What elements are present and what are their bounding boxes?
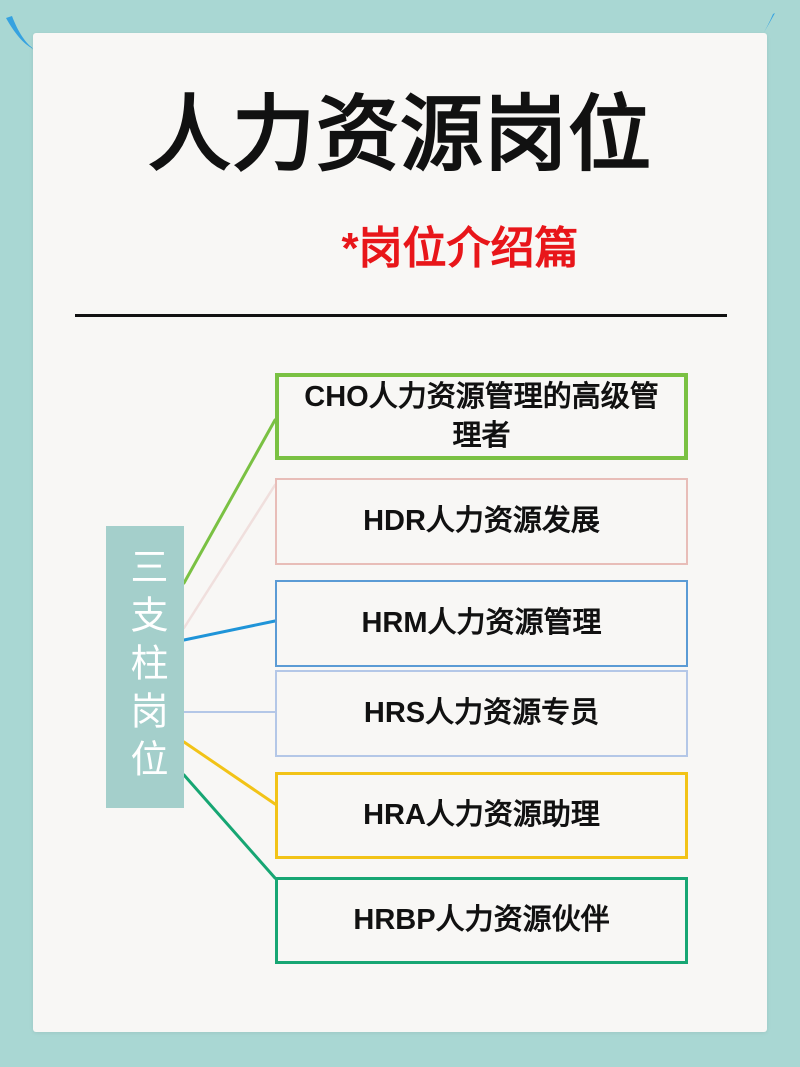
pillar-category-block[interactable]: 三支柱岗位 (106, 526, 184, 808)
role-box-label-hdr: HDR人力资源发展 (347, 502, 616, 541)
role-box-cho[interactable]: CHO人力资源管理的高级管理者 (275, 373, 688, 460)
role-box-label-hrs: HRS人力资源专员 (348, 694, 615, 733)
org-role-diagram: 三支柱岗位 CHO人力资源管理的高级管理者HDR人力资源发展HRM人力资源管理H… (33, 33, 767, 1032)
pillar-category-label: 三支柱岗位 (120, 547, 170, 787)
role-box-hra[interactable]: HRA人力资源助理 (275, 772, 688, 859)
role-box-label-cho: CHO人力资源管理的高级管理者 (279, 378, 684, 456)
connector-hrbp (184, 775, 275, 878)
connector-hrm (184, 621, 275, 640)
poster-card: 人力资源岗位 *岗位介绍篇 三支柱岗位 CHO人力资源管理的高级管理者HDR人力… (33, 33, 767, 1032)
role-box-label-hra: HRA人力资源助理 (347, 796, 616, 835)
role-box-hrm[interactable]: HRM人力资源管理 (275, 580, 688, 667)
role-box-label-hrm: HRM人力资源管理 (345, 604, 617, 643)
role-box-label-hrbp: HRBP人力资源伙伴 (337, 901, 625, 940)
role-box-hrbp[interactable]: HRBP人力资源伙伴 (275, 877, 688, 964)
role-box-hdr[interactable]: HDR人力资源发展 (275, 478, 688, 565)
role-box-hrs[interactable]: HRS人力资源专员 (275, 670, 688, 757)
connector-hra (184, 742, 275, 804)
